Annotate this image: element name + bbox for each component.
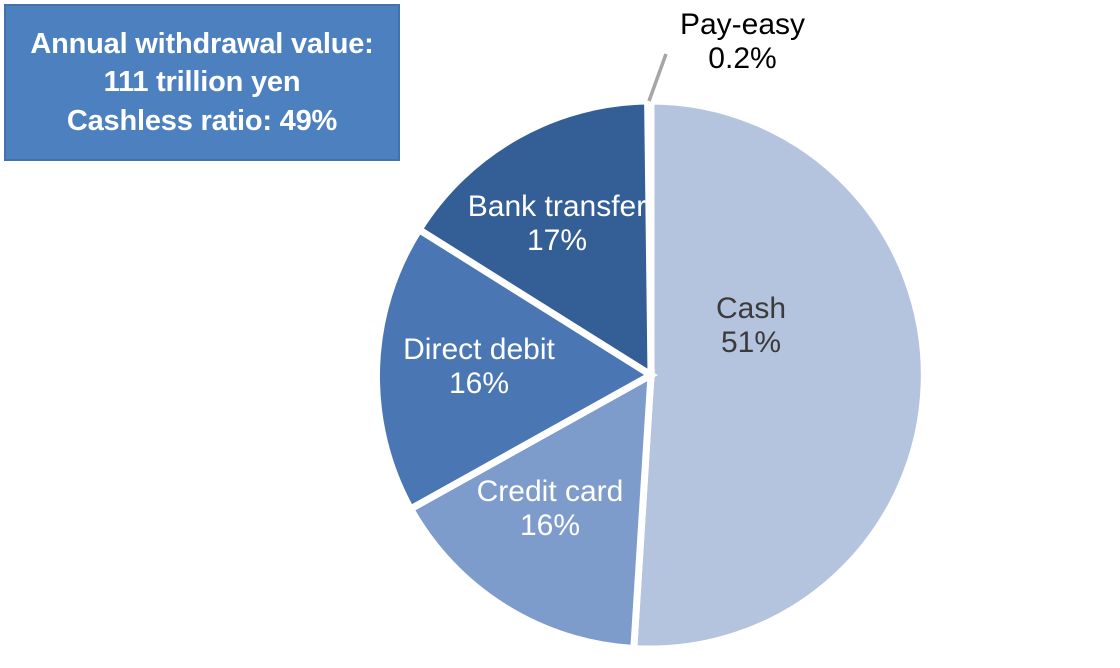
pie-slice-cash[interactable] <box>634 101 925 649</box>
pie-chart-svg <box>0 0 1120 668</box>
pie-chart: Cash 51% Bank transfer 17% Direct debit … <box>0 0 1120 668</box>
pay-easy-leader-line <box>649 54 666 101</box>
chart-page: Annual withdrawal value: 111 trillion ye… <box>0 0 1120 668</box>
